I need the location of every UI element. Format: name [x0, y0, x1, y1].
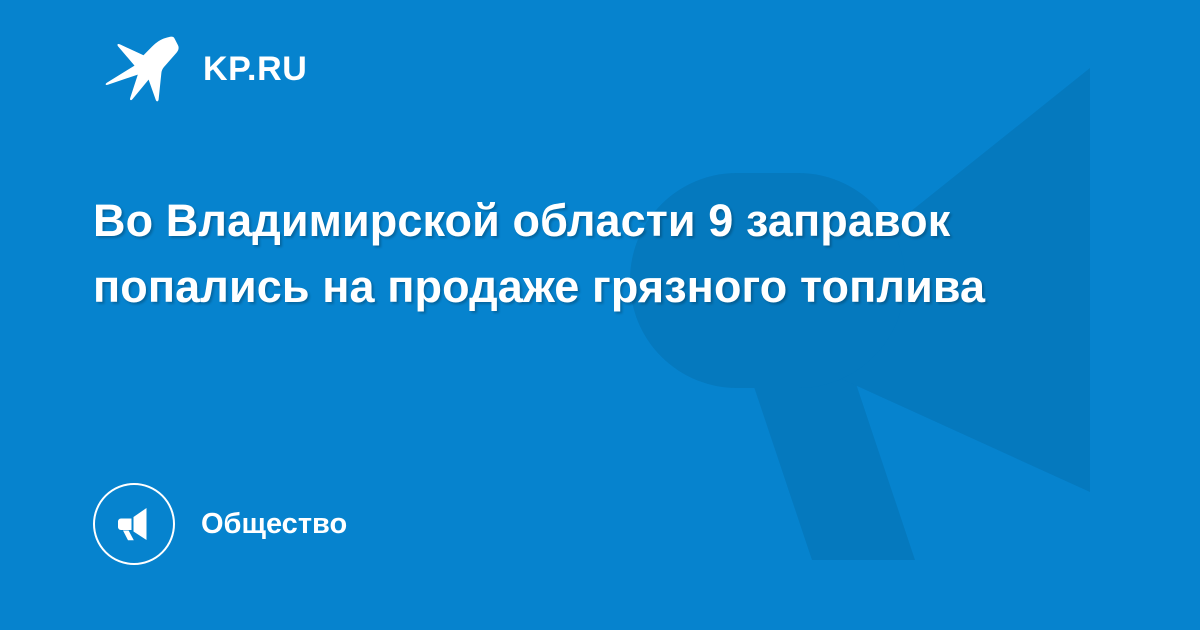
- swallow-bird-icon: [103, 36, 181, 102]
- category-label: Общество: [201, 510, 347, 539]
- headline-title: Во Владимирской области 9 заправок попал…: [93, 188, 1043, 320]
- megaphone-icon: [93, 483, 175, 565]
- category-badge[interactable]: Общество: [93, 482, 347, 566]
- brand-logo[interactable]: KP.RU: [103, 34, 307, 104]
- brand-name-label: KP.RU: [203, 52, 307, 86]
- social-share-card: KP.RU Во Владимирской области 9 заправок…: [0, 0, 1200, 630]
- megaphone-watermark-handle: [735, 330, 915, 560]
